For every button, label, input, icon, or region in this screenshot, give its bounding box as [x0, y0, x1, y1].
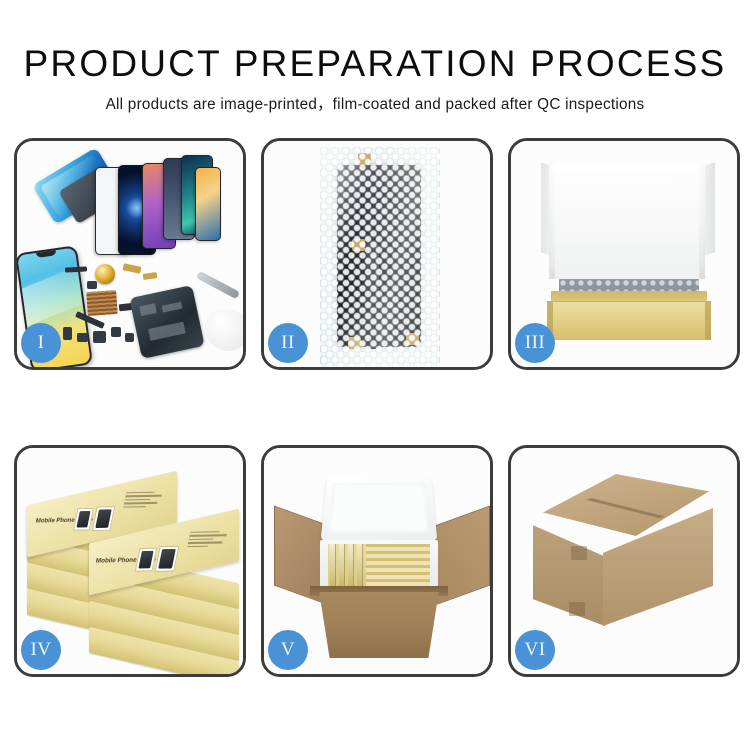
packed-kraft-boxes [328, 544, 430, 586]
small-component-6 [87, 281, 97, 289]
box-window-front-2 [155, 546, 180, 572]
white-foam-sheet [555, 181, 699, 279]
process-step-grid: I II [14, 138, 736, 738]
step-panel-4: Mobile Phone Spare Parts Mobile Phone Sp… [14, 445, 246, 677]
plastic-sheen [320, 147, 440, 367]
gold-connector-part [143, 272, 158, 280]
step-badge-5: V [268, 630, 308, 670]
box-text-lines-front [187, 531, 232, 550]
page-subtitle: All products are image-printed，film-coat… [0, 97, 750, 112]
step-panel-5: V [261, 445, 493, 677]
kraft-box-front [547, 301, 711, 340]
box-window-back-1 [73, 508, 94, 531]
step-badge-6: VI [515, 630, 555, 670]
gold-flex-part [122, 263, 141, 274]
step-badge-4: IV [21, 630, 61, 670]
bubble-wrap-bag [320, 147, 440, 367]
step-badge-3: III [515, 323, 555, 363]
step-badge-1: I [21, 323, 61, 363]
connector-chip-grid [86, 290, 118, 316]
step-badge-2: II [268, 323, 308, 363]
box-text-lines-back [123, 491, 168, 510]
speaker-coil-part [95, 264, 115, 284]
foam-box-lid [321, 477, 438, 540]
box-window-front-1 [135, 548, 157, 572]
phone-screen-gold [195, 167, 221, 241]
step-panel-2: II [261, 138, 493, 370]
flex-cable-part [65, 266, 87, 272]
small-component-1 [63, 327, 72, 340]
small-component-2 [77, 333, 88, 342]
step-panel-1: I [14, 138, 246, 370]
step-panel-3: III [508, 138, 740, 370]
small-component-5 [125, 333, 134, 342]
carton-tab-lower [569, 602, 585, 616]
small-component-4 [111, 327, 121, 337]
phone-rear-chassis [129, 285, 204, 359]
small-component-3 [93, 331, 106, 343]
carton-front-panel [314, 592, 444, 658]
screen-fan-group [95, 153, 215, 253]
sealed-carton [533, 474, 719, 648]
header: PRODUCT PREPARATION PROCESS All products… [0, 0, 750, 112]
carton-tab-upper [571, 546, 587, 560]
box-window-back-2 [92, 506, 116, 531]
gloved-hand [205, 309, 243, 351]
product-preparation-infographic: PRODUCT PREPARATION PROCESS All products… [0, 0, 750, 750]
step-panel-6: VI [508, 445, 740, 677]
tweezers-tool [196, 271, 240, 300]
page-title: PRODUCT PREPARATION PROCESS [0, 45, 750, 82]
